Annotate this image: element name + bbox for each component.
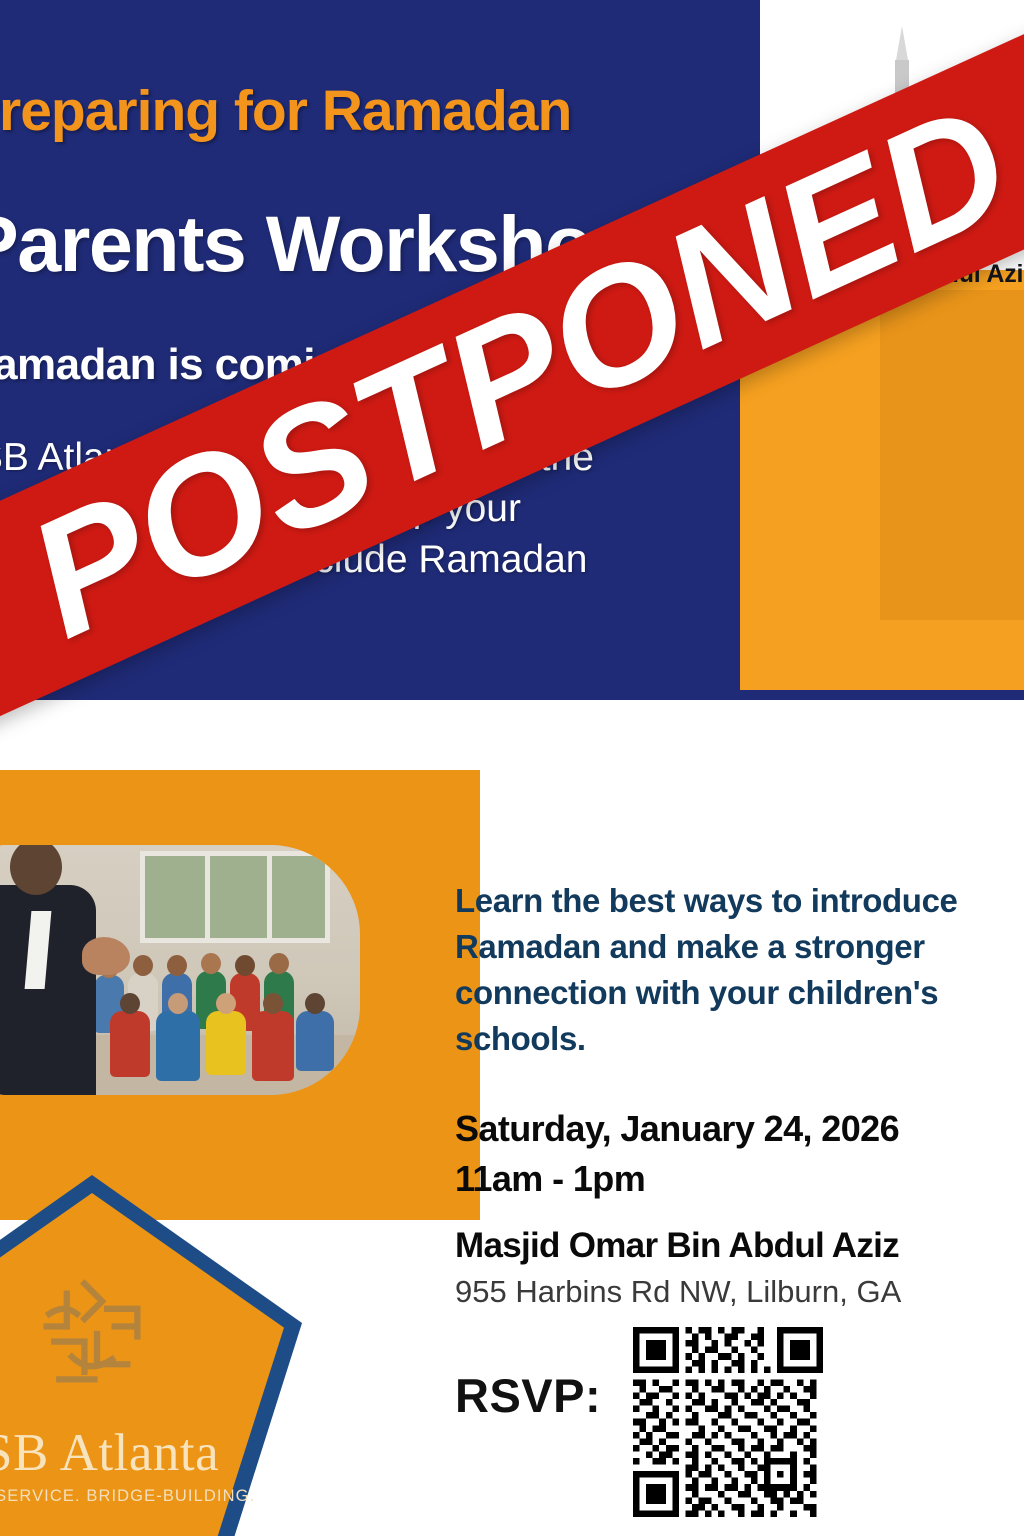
photo-presenter-head — [10, 845, 62, 895]
orange-band-dark — [880, 290, 1024, 620]
isb-atlanta-logo: ISB Atlanta ISLAM. SERVICE. BRIDGE-BUILD… — [0, 1175, 302, 1536]
learn-line: schools. — [455, 1016, 1024, 1062]
photo-student-head — [120, 993, 140, 1014]
photo-presenter — [0, 885, 96, 1095]
learn-line: connection with your children's — [455, 970, 1024, 1016]
learn-description: Learn the best ways to introduce Ramadan… — [455, 878, 1024, 1062]
photo-student-head — [201, 953, 221, 974]
flyer-poster: MASJID OMAR bin Abdul Aziz Preparing for… — [0, 0, 1024, 1536]
photo-student-head — [133, 955, 153, 976]
photo-student — [156, 1011, 200, 1081]
photo-student-head — [269, 953, 289, 974]
photo-student — [206, 1011, 246, 1075]
isb-tagline: ISLAM. SERVICE. BRIDGE-BUILDING. — [0, 1487, 302, 1506]
classroom-photo — [0, 845, 360, 1095]
event-time: 11am - 1pm — [455, 1158, 1015, 1200]
photo-presenter-hand — [82, 937, 130, 975]
photo-student — [110, 1011, 150, 1077]
isb-wordmark: ISB Atlanta — [0, 1423, 302, 1483]
photo-window — [140, 851, 330, 943]
photo-student — [252, 1011, 294, 1081]
photo-student-head — [167, 955, 187, 976]
event-date: Saturday, January 24, 2026 — [455, 1108, 1015, 1150]
photo-student-head — [168, 993, 188, 1014]
flyer-kicker: Preparing for Ramadan — [0, 78, 571, 144]
event-venue: Masjid Omar Bin Abdul Aziz — [455, 1226, 1015, 1266]
photo-student-head — [216, 993, 236, 1014]
photo-student — [296, 1011, 334, 1071]
event-details: Saturday, January 24, 2026 11am - 1pm Ma… — [455, 1108, 1015, 1310]
learn-line: Learn the best ways to introduce — [455, 878, 1024, 924]
event-address: 955 Harbins Rd NW, Lilburn, GA — [455, 1274, 1015, 1310]
qr-code[interactable] — [633, 1327, 823, 1517]
photo-presenter-shirt — [25, 911, 52, 989]
photo-student-head — [263, 993, 283, 1014]
isb-calligraphy-icon — [29, 1271, 155, 1397]
photo-student-head — [305, 993, 325, 1014]
photo-student-head — [235, 955, 255, 976]
learn-line: Ramadan and make a stronger — [455, 924, 1024, 970]
rsvp-label: RSVP: — [455, 1368, 601, 1423]
